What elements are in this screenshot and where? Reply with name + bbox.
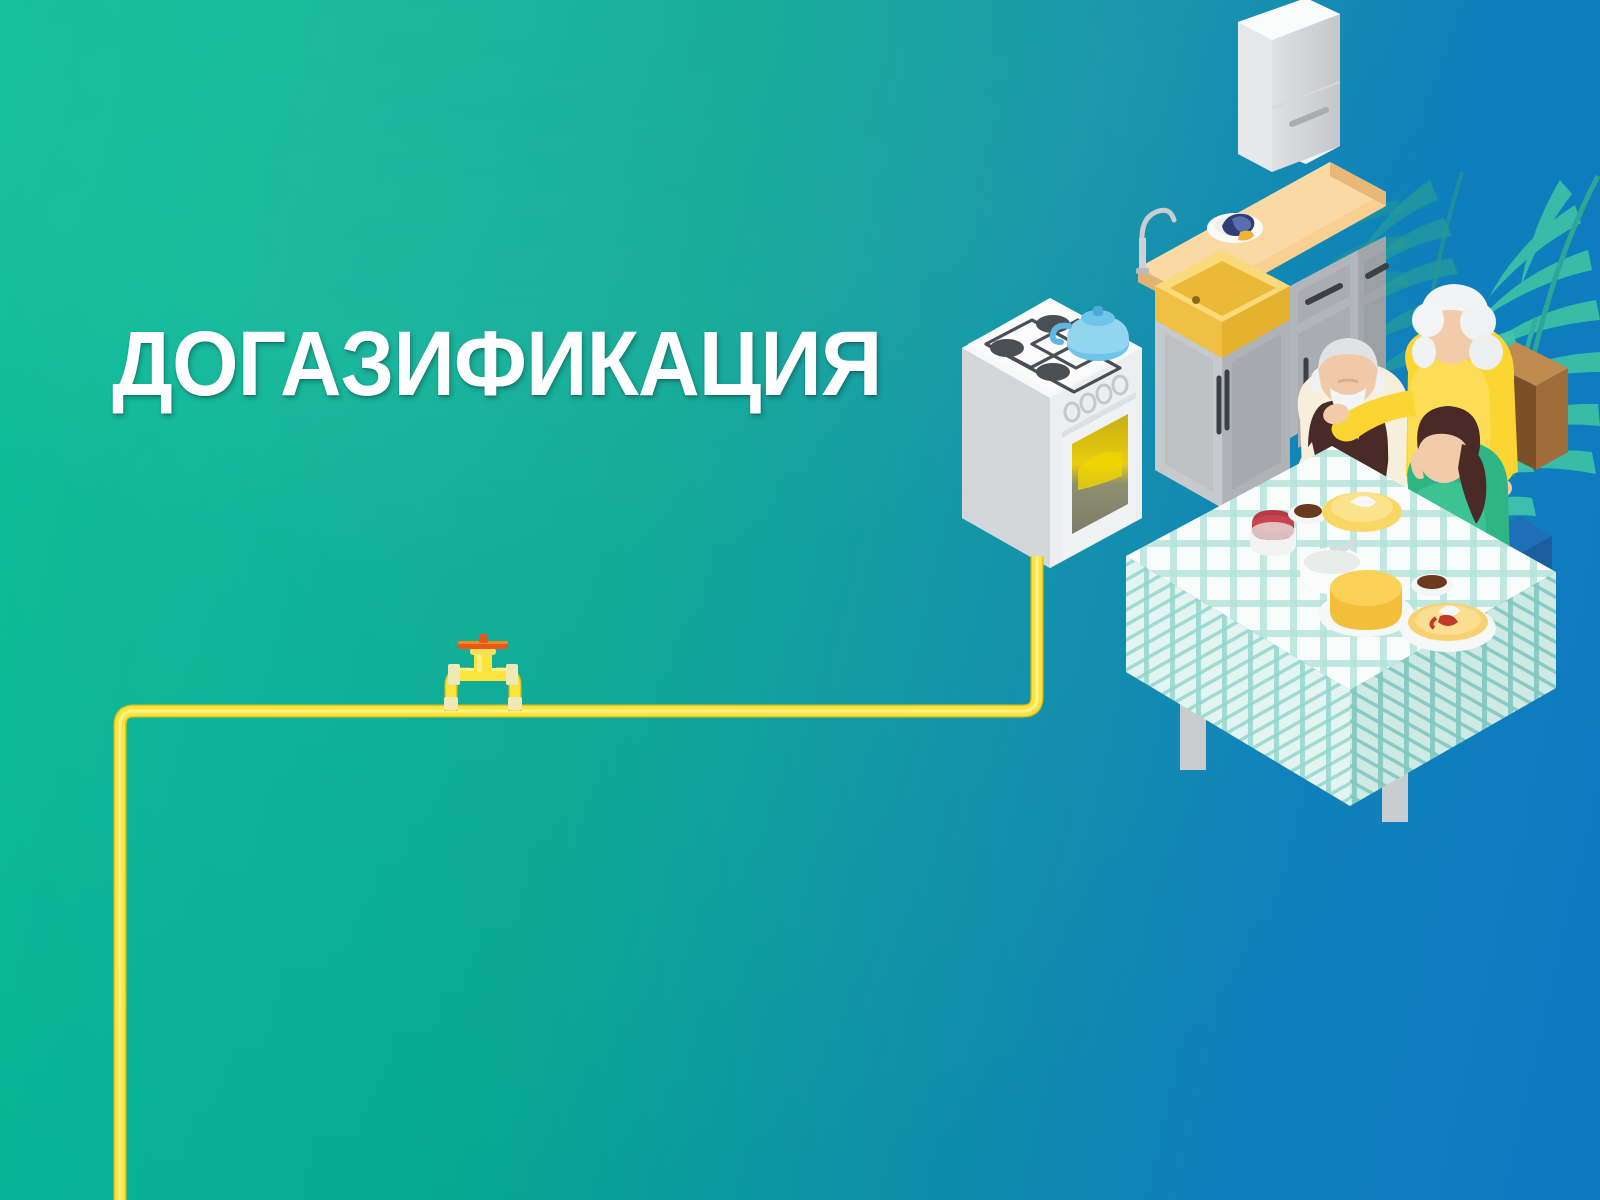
gas-pipe-layer: [0, 0, 1600, 1200]
page-title: ДОГАЗИФИКАЦИЯ: [112, 318, 881, 410]
gas-valve[interactable]: [444, 634, 522, 711]
poster-root: ДОГАЗИФИКАЦИЯ: [0, 0, 1600, 1200]
gas-pipe-route: [120, 556, 1037, 1200]
pipe-svg: [0, 0, 1600, 1200]
